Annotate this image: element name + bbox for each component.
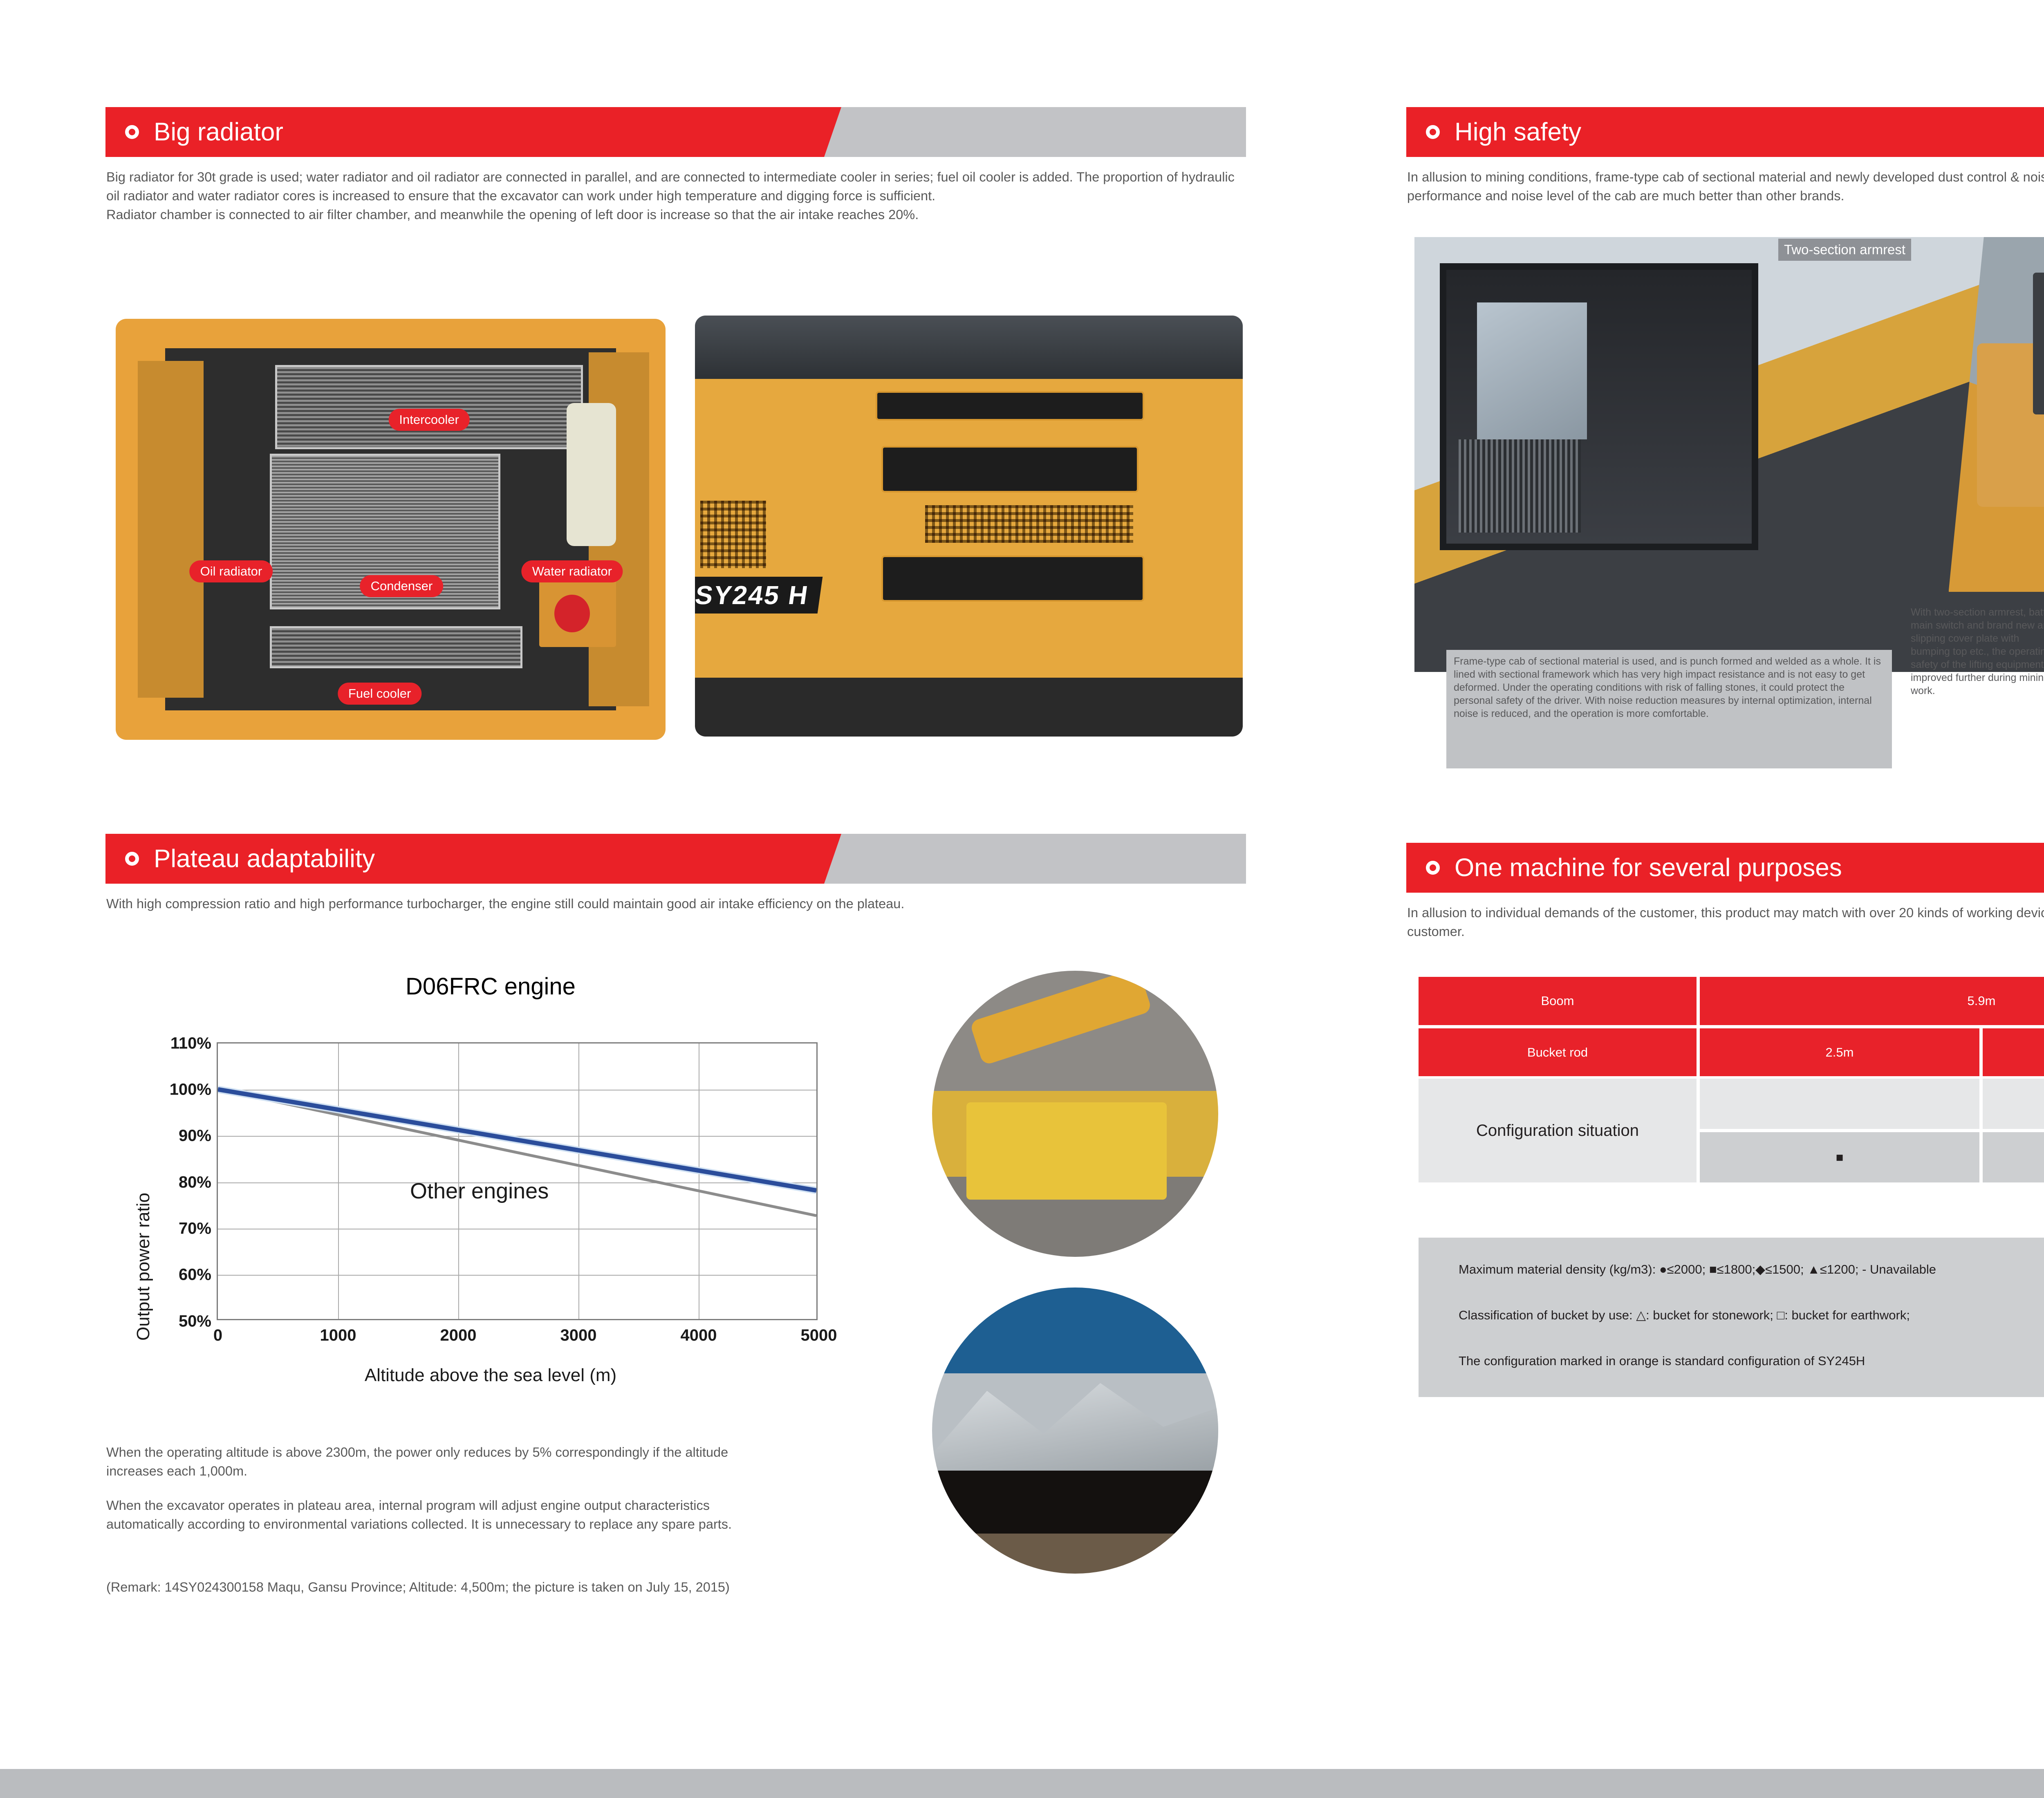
chart-xtick: 2000 <box>440 1326 477 1345</box>
section-header-high-safety: High safety <box>1406 107 2044 157</box>
dump-truck-body <box>966 1102 1167 1200</box>
chart-ytick: 50% <box>179 1312 211 1331</box>
brochure-page: Big radiator Big radiator for 30t grade … <box>0 0 2044 1798</box>
chart-annotation-other-engines: Other engines <box>410 1178 549 1204</box>
table-row-header-configuration-situation: Configuration situation <box>1419 1079 1697 1182</box>
perforated-panel-main <box>925 505 1133 543</box>
one-machine-body: In allusion to individual demands of the… <box>1407 903 2044 941</box>
table-header-rod-2-95m: 2.95m <box>1983 1028 2044 1076</box>
caption-two-section-armrest: With two-section armrest, battery main s… <box>1903 601 2044 719</box>
note-bucket-classification: Classification of bucket by use: △: buck… <box>1459 1308 1910 1323</box>
joystick <box>2033 273 2044 414</box>
big-radiator-body: Big radiator for 30t grade is used; wate… <box>106 168 1247 224</box>
table-cell-r2-rod-2-5m: ■ <box>1700 1132 1979 1182</box>
chart-xtick: 5000 <box>801 1326 837 1345</box>
engine-hood <box>695 316 1243 379</box>
chart-ytick: 70% <box>179 1220 211 1238</box>
section-header-one-machine: One machine for several purposes <box>1406 843 2044 893</box>
mountain-range <box>932 1373 1218 1471</box>
section-title: One machine for several purposes <box>1455 853 1842 882</box>
table-header-boom: Boom <box>1419 977 1697 1025</box>
plateau-para-2: When the excavator operates in plateau a… <box>106 1496 785 1534</box>
section-title: Plateau adaptability <box>154 844 375 873</box>
chart-ytick: 80% <box>179 1173 211 1192</box>
bullet-ring-icon <box>125 852 139 866</box>
table-cell-r2-rod-2-95m: ■ <box>1983 1132 2044 1182</box>
configuration-table: Boom 5.9m Bucket capacity m³ Bucket rod … <box>1419 977 2044 1230</box>
bullet-ring-icon <box>1426 861 1440 875</box>
chart-xtick: 1000 <box>320 1326 356 1345</box>
coolant-tank <box>567 403 616 546</box>
intercooler-core <box>275 365 583 449</box>
section-header-plateau: Plateau adaptability <box>105 834 1246 884</box>
plateau-para-1: When the operating altitude is above 230… <box>106 1443 744 1480</box>
label-oil-radiator: Oil radiator <box>190 560 273 582</box>
middle-vent-grille <box>881 446 1139 492</box>
table-notes: Maximum material density (kg/m3): ●≤2000… <box>1419 1238 2044 1397</box>
label-intercooler: Intercooler <box>388 409 469 431</box>
plateau-body: With high compression ratio and high per… <box>106 894 1210 913</box>
section-header-big-radiator: Big radiator <box>105 107 1246 157</box>
caption-frame-type-cab: Frame-type cab of sectional material is … <box>1446 650 1892 768</box>
page-bottom-bar <box>0 1769 2044 1798</box>
cab-window <box>1477 302 1587 439</box>
battery-switch-knob <box>554 595 590 632</box>
door-panel-left <box>138 361 204 698</box>
plateau-photo-truck <box>932 971 1218 1257</box>
chart-plot-area: 110% 100% 90% 80% 70% 60% 50% 0 1000 200… <box>217 1042 818 1320</box>
chart-ytick: 100% <box>170 1081 211 1099</box>
high-safety-body: In allusion to mining conditions, frame-… <box>1407 168 2044 205</box>
bullet-ring-icon <box>125 125 139 139</box>
note-material-density: Maximum material density (kg/m3): ●≤2000… <box>1459 1262 1936 1277</box>
radiator-photo: Intercooler Oil radiator Condenser Water… <box>116 319 666 740</box>
bullet-ring-icon <box>1426 125 1440 139</box>
high-safety-collage: Two-section armrest Battery main switch … <box>1414 237 2044 809</box>
chart-title: D06FRC engine <box>123 973 858 1000</box>
label-fuel-cooler: Fuel cooler <box>338 683 421 705</box>
fuel-cooler-core <box>270 626 523 668</box>
service-panel <box>539 580 616 647</box>
table-cell-r1-rod-2-5m <box>1700 1079 1979 1129</box>
upper-vent-grille <box>876 391 1144 421</box>
excavator-arm <box>969 971 1152 1066</box>
chart-xtick: 4000 <box>681 1326 717 1345</box>
label-water-radiator: Water radiator <box>522 560 623 582</box>
model-badge: SY245 H <box>695 577 823 614</box>
table-header-bucket-rod: Bucket rod <box>1419 1028 1697 1076</box>
section-title: High safety <box>1455 118 1581 147</box>
plateau-photo-mountains <box>932 1287 1218 1574</box>
table-cell-r1-rod-2-95m: ● <box>1983 1079 2044 1129</box>
series-d06frc <box>218 1089 816 1190</box>
lower-vent-grille <box>881 555 1144 602</box>
perforated-panel-side <box>700 501 766 568</box>
chart-x-axis-label: Altitude above the sea level (m) <box>123 1365 858 1386</box>
label-condenser: Condenser <box>360 575 444 597</box>
label-two-section-armrest: Two-section armrest <box>1778 239 1911 261</box>
table-header-rod-2-5m: 2.5m <box>1700 1028 1979 1076</box>
chart-y-axis-label: Output power ratio <box>133 1193 154 1341</box>
chart-ytick: 90% <box>179 1127 211 1145</box>
chart-ytick: 60% <box>179 1266 211 1284</box>
cab-body <box>1440 263 1758 550</box>
chart-ytick: 110% <box>170 1034 211 1053</box>
plateau-para-3: (Remark: 14SY024300158 Maqu, Gansu Provi… <box>106 1578 785 1596</box>
cab-guard-mesh <box>1459 439 1581 533</box>
note-standard-configuration: The configuration marked in orange is st… <box>1459 1354 1865 1368</box>
excavator-side-photo: SY245 H <box>695 316 1243 737</box>
chart-xtick: 3000 <box>560 1326 597 1345</box>
chart-xtick: 0 <box>213 1326 222 1345</box>
section-title: Big radiator <box>154 118 283 147</box>
table-header-boom-value: 5.9m <box>1700 977 2044 1025</box>
power-ratio-chart: D06FRC engine Output power ratio 110% 10… <box>123 973 858 1414</box>
